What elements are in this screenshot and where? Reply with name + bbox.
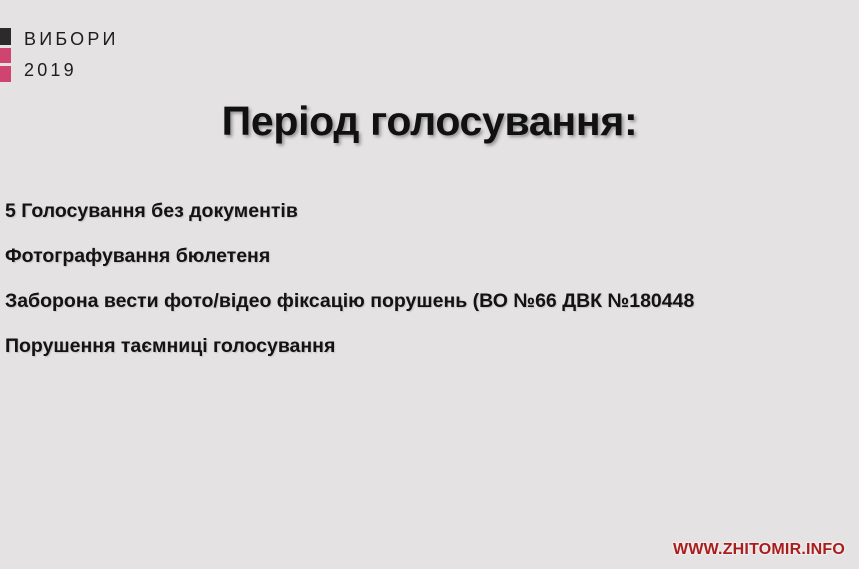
logo-text-block: ВИБОРИ 2019 [24,28,119,81]
logo-year-2019: 2019 [24,59,119,81]
source-watermark: WWW.ZHITOMIR.INFO [673,541,845,559]
presentation-slide: ВИБОРИ 2019 Період голосування: 5 Голосу… [0,0,859,569]
list-item: Порушення таємниці голосування [5,333,855,359]
logo-title-vybory: ВИБОРИ [24,28,119,50]
slide-body-list: 5 Голосування без документів Фотографува… [5,198,855,378]
list-item: Фотографування бюлетеня [5,243,855,269]
logo-bar-stack [0,28,11,82]
logo-bar-pink-segment-2 [0,66,11,82]
logo-bar-dark-segment [0,28,11,45]
list-item: 5 Голосування без документів [5,198,855,224]
slide-title: Період голосування: [0,98,859,145]
vybory-2019-logo: ВИБОРИ 2019 [0,28,119,82]
list-item: Заборона вести фото/відео фіксацію поруш… [5,288,855,314]
logo-bar-pink-segment-1 [0,48,11,63]
